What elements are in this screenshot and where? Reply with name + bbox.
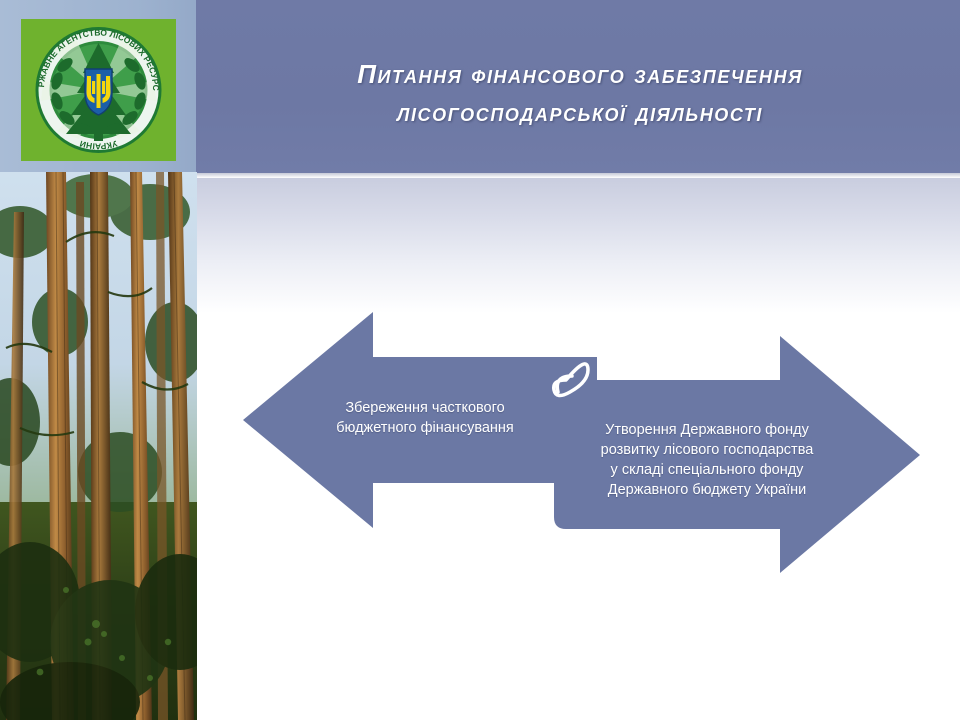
agency-logo: ДЕРЖАВНЕ АГЕНТСТВО ЛІСОВИХ РЕСУРСІВ УКРА… [21, 19, 176, 161]
page-title: Питання фінансового забезпечення лісогос… [220, 55, 940, 131]
arrow-left-label: Збереження часткового бюджетного фінансу… [300, 398, 550, 438]
forest-photo [0, 172, 197, 720]
agency-logo-icon: ДЕРЖАВНЕ АГЕНТСТВО ЛІСОВИХ РЕСУРСІВ УКРА… [21, 19, 176, 161]
header-band-shadow [196, 173, 960, 178]
page-title-line-2: лісогосподарської діяльності [220, 93, 940, 131]
arrow-right-label: Утворення Державного фонду розвитку лісо… [566, 420, 848, 500]
background-gradient-band [196, 178, 960, 313]
slide-canvas: ДЕРЖАВНЕ АГЕНТСТВО ЛІСОВИХ РЕСУРСІВ УКРА… [0, 0, 960, 720]
page-title-line-1: Питання фінансового забезпечення [220, 55, 940, 93]
forest-photo-image [0, 172, 197, 720]
